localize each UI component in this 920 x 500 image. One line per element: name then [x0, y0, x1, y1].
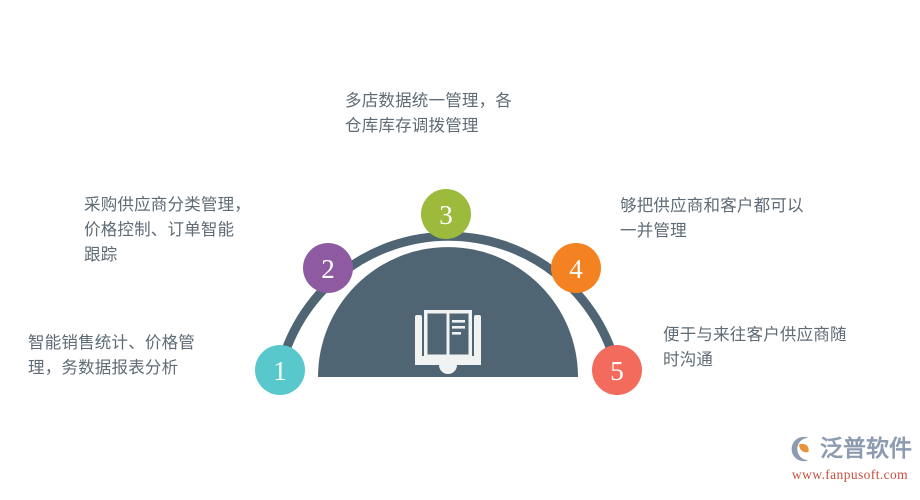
- fanpu-logo-icon: [786, 434, 816, 464]
- brand-url: www.fanpusoft.com: [786, 467, 914, 483]
- infographic-canvas: 1 2 3 4 5 多店数据统一管理，各 仓库库存调拨管理 采购供应商分类管理，…: [0, 0, 920, 500]
- step-number-4: 4: [569, 254, 583, 284]
- step-number-1: 1: [273, 356, 287, 386]
- caption-step-3: 多店数据统一管理，各 仓库库存调拨管理: [345, 88, 595, 138]
- caption-step-5: 便于与来往客户供应商随 时沟通: [663, 322, 903, 372]
- brand-row: 泛普软件: [786, 432, 914, 466]
- step-number-5: 5: [610, 356, 624, 386]
- step-node-4[interactable]: 4: [551, 243, 601, 293]
- caption-step-2: 采购供应商分类管理， 价格控制、订单智能 跟踪: [84, 192, 299, 267]
- open-book-icon: [415, 310, 481, 374]
- step-node-3[interactable]: 3: [421, 189, 471, 239]
- brand-watermark: 泛普软件 www.fanpusoft.com: [786, 432, 914, 490]
- step-number-2: 2: [321, 254, 335, 284]
- step-node-2[interactable]: 2: [303, 243, 353, 293]
- step-node-5[interactable]: 5: [592, 345, 642, 395]
- brand-name: 泛普软件: [820, 438, 912, 461]
- caption-step-4: 够把供应商和客户都可以 一并管理: [620, 193, 870, 243]
- step-number-3: 3: [439, 200, 453, 230]
- caption-step-1: 智能销售统计、价格管 理，务数据报表分析: [28, 330, 263, 380]
